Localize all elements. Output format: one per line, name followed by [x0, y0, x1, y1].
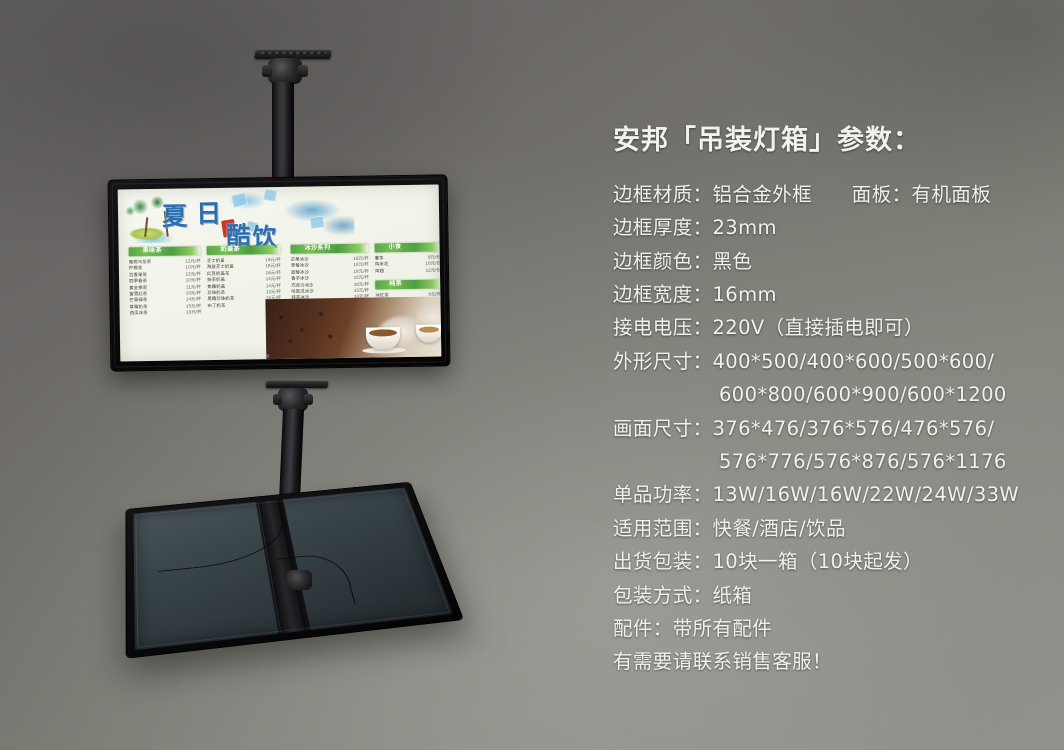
- menu-category-header: 小食: [375, 242, 441, 252]
- menu-category-label: 小食: [389, 243, 402, 252]
- spec-line: 576*776/576*876/576*1176: [613, 445, 1043, 478]
- product-photo-canvas: 夏 日 酷 饮 果味茶蜜桃乌龙茶12元/杯柠檬茶10元/杯百香果茶12元/杯四季…: [0, 0, 1064, 750]
- menu-item-price: 12元/份: [426, 267, 441, 274]
- coffee-photo: [265, 296, 441, 359]
- menu-category-header: 奶盖茶: [207, 245, 281, 255]
- spec-line: 接电电压：220V（直接插电即可）: [613, 311, 1043, 344]
- spec-line: 包装方式：纸箱: [613, 579, 1043, 612]
- menu-category-header: 冰沙系列: [291, 244, 369, 254]
- headline-char-2: 日: [196, 194, 222, 230]
- spec-line: 边框颜色：黑色: [613, 245, 1043, 278]
- coffee-cup-small-icon: [416, 324, 441, 342]
- menu-item-row: 西瓜冰茶13元/杯: [130, 309, 202, 317]
- spec-line-list: 边框材质：铝合金外框 面板：有机面板边框厚度：23mm边框颜色：黑色边框宽度：1…: [613, 178, 1043, 679]
- spec-line: 适用范围：快餐/酒店/饮品: [613, 512, 1043, 545]
- menu-category-label: 果味茶: [143, 247, 163, 256]
- menu-category-label: 纯茶: [389, 280, 402, 289]
- spec-line: 外形尺寸：400*500/400*600/500*600/: [613, 345, 1043, 378]
- spec-line: 有需要请联系销售客服！: [613, 645, 1043, 678]
- upper-mount-pole: [272, 82, 294, 192]
- menu-watermark: 夏日酷饮 清凉一夏: [238, 353, 270, 358]
- specification-block: 安邦「吊装灯箱」参数： 边框材质：铝合金外框 面板：有机面板边框厚度：23mm边…: [613, 126, 1043, 679]
- spec-line: 配件：带所有配件: [613, 612, 1043, 645]
- menu-item-name: 布丁奶茶: [207, 303, 225, 310]
- ceiling-swivel-joint-icon: [268, 58, 302, 84]
- spec-line: 边框厚度：23mm: [613, 211, 1043, 244]
- menu-item-price: 13元/杯: [186, 309, 201, 316]
- spec-line: 出货包装：10块一箱（10块起发）: [613, 545, 1043, 578]
- menu-category-header: 果味茶: [129, 246, 201, 256]
- lower-mount-plate-icon: [266, 381, 329, 388]
- menu-column: 果味茶蜜桃乌龙茶12元/杯柠檬茶10元/杯百香果茶12元/杯四季春茶10元/杯黄…: [129, 246, 202, 317]
- headline-char-1: 夏: [162, 196, 188, 232]
- menu-artwork: 夏 日 酷 饮 果味茶蜜桃乌龙茶12元/杯柠檬茶10元/杯百香果茶12元/杯四季…: [118, 184, 442, 361]
- lightbox-back-surface: [133, 487, 453, 650]
- menu-item-name: 西瓜冰茶: [130, 310, 148, 317]
- menu-category-label: 奶盖茶: [221, 246, 241, 255]
- menu-item-name: 鸡翅: [375, 268, 384, 275]
- spec-line: 画面尺寸：376*476/376*576/476*576/: [613, 412, 1043, 445]
- menu-headline: 夏 日 酷 饮: [152, 192, 343, 251]
- menu-category-header: 纯茶: [375, 280, 441, 290]
- spec-line: 边框材质：铝合金外框 面板：有机面板: [613, 178, 1043, 211]
- spec-line: 600*800/600*900/600*1200: [613, 378, 1043, 411]
- pole-clamp-icon: [286, 570, 312, 590]
- menu-category-label: 冰沙系列: [305, 244, 331, 253]
- spec-line: 边框宽度：16mm: [613, 278, 1043, 311]
- spec-line: 单品功率：13W/16W/16W/22W/24W/33W: [613, 478, 1043, 511]
- spec-title: 安邦「吊装灯箱」参数：: [613, 126, 1043, 156]
- lightbox-front-panel: 夏 日 酷 饮 果味茶蜜桃乌龙茶12元/杯柠檬茶10元/杯百香果茶12元/杯四季…: [109, 175, 450, 370]
- coffee-cup-icon: [366, 327, 400, 350]
